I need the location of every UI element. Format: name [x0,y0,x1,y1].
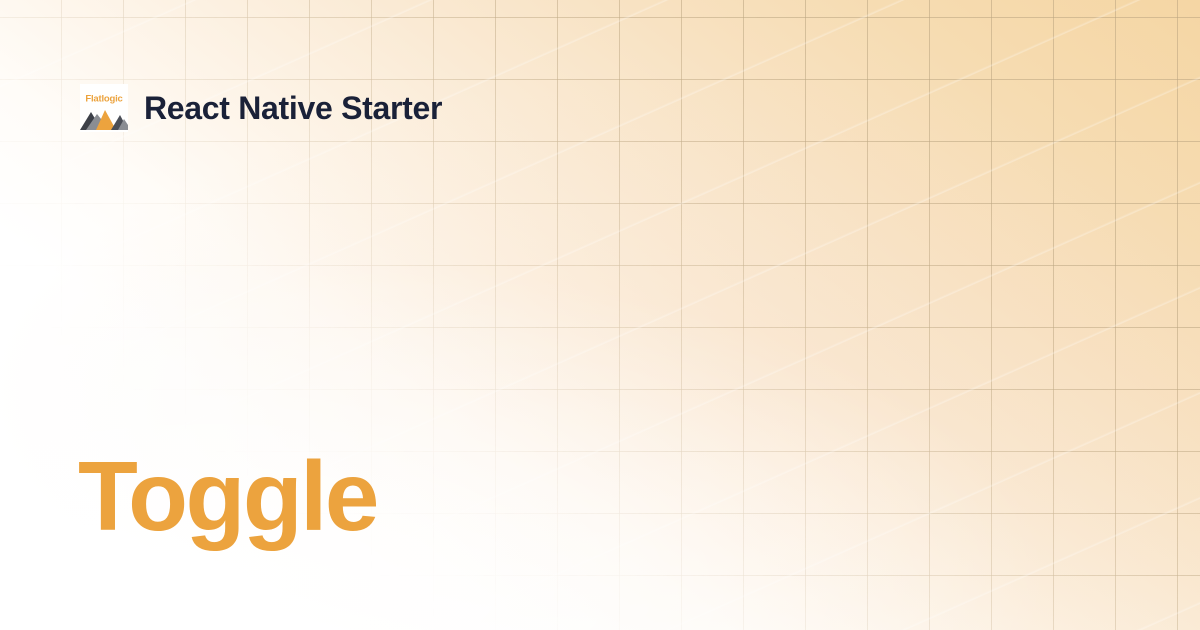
brand-title: React Native Starter [144,92,442,124]
page-title: Toggle [78,447,377,545]
card-content: Flatlogic React Native Starter Toggle [0,0,1200,630]
og-banner-card: Flatlogic React Native Starter Toggle [0,0,1200,630]
brand-header: Flatlogic React Native Starter [80,84,442,132]
svg-text:Flatlogic: Flatlogic [85,94,122,105]
flatlogic-logo-icon: Flatlogic [80,84,128,132]
